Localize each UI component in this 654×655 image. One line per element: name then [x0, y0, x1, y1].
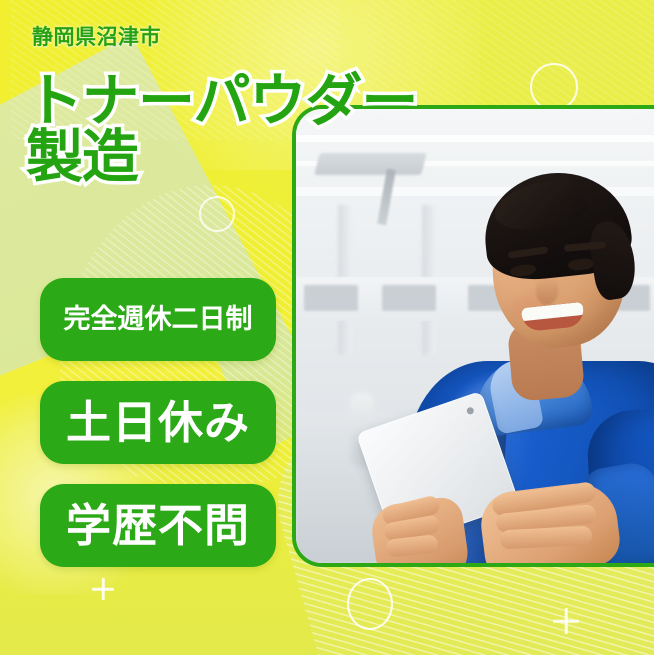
worker-nose [536, 277, 558, 305]
page-title: トナーパウダー 製造 [26, 74, 526, 186]
region-label: 静岡県沼津市 [32, 27, 161, 48]
job-ad-banner: 静岡県沼津市 トナーパウダー 製造 完全週休二日制 土日休み 学歴不問 [0, 0, 654, 655]
badge-label: 土日休み [66, 400, 250, 445]
feature-badge-list: 完全週休二日制 土日休み 学歴不問 [40, 278, 276, 587]
badge-label: 学歴不問 [66, 503, 250, 548]
decorative-circle-icon [199, 196, 235, 232]
feature-badge-no-education-requirement: 学歴不問 [40, 484, 276, 567]
decorative-plus-icon [553, 608, 579, 634]
badge-label: 完全週休二日制 [64, 306, 253, 333]
feature-badge-full-two-day-weekend: 完全週休二日制 [40, 278, 276, 361]
decorative-circle-icon [530, 63, 578, 111]
tablet-camera-icon [466, 406, 475, 415]
page-title-line-2: 製造 [26, 130, 526, 186]
page-title-line-1: トナーパウダー [26, 69, 417, 133]
feature-badge-weekends-off: 土日休み [40, 381, 276, 464]
decorative-circle-icon [347, 578, 393, 630]
